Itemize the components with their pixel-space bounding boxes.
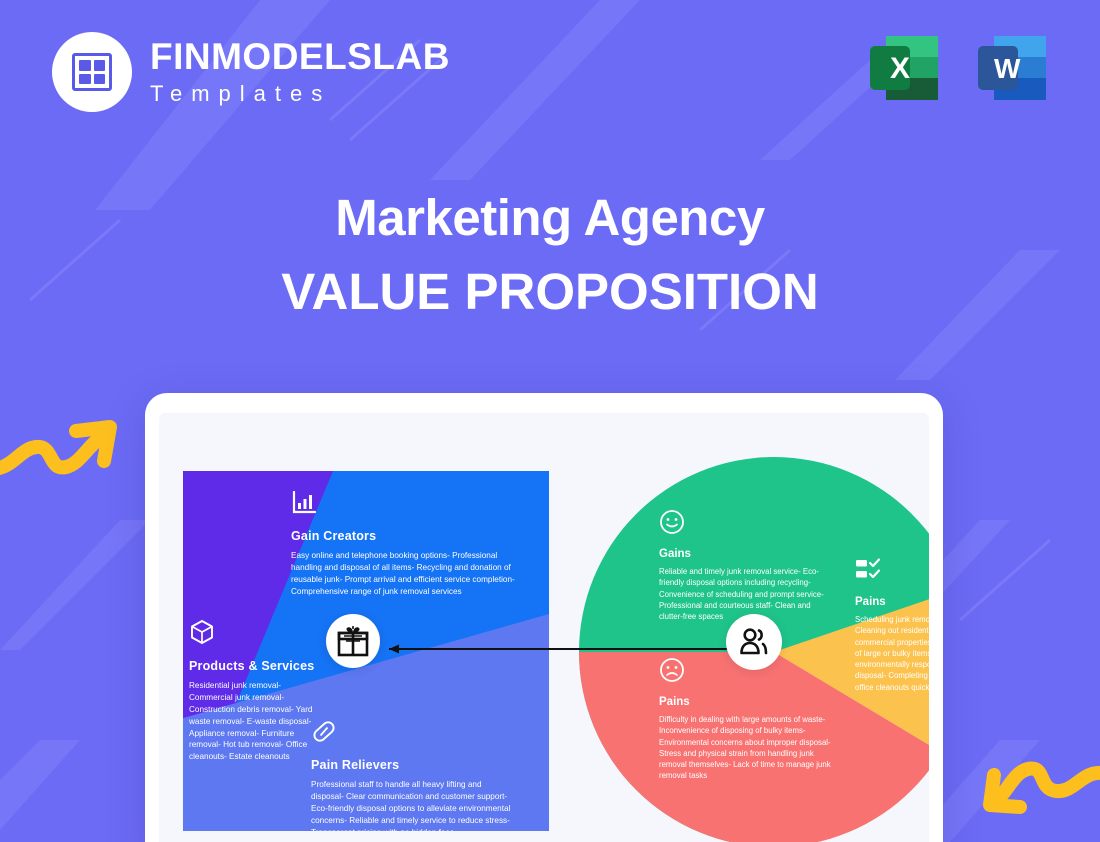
- checklist-icon: [855, 557, 929, 588]
- pain-relievers-block[interactable]: Pain Relievers Professional staff to han…: [311, 718, 516, 831]
- svg-text:X: X: [890, 52, 910, 85]
- page-title-block: Marketing Agency VALUE PROPOSITION: [0, 190, 1100, 320]
- smiley-happy-icon: [659, 509, 834, 540]
- pain-relievers-title: Pain Relievers: [311, 758, 516, 772]
- page-title-line1: Marketing Agency: [0, 190, 1100, 246]
- excel-file-icon[interactable]: X: [864, 28, 944, 108]
- page-title-line2: VALUE PROPOSITION: [0, 264, 1100, 320]
- page-header: FINMODELSLAB Templates X W: [0, 0, 1100, 150]
- logo-mark: [52, 32, 132, 112]
- gains-block[interactable]: Gains Reliable and timely junk removal s…: [659, 509, 834, 622]
- brand-logo[interactable]: FINMODELSLAB Templates: [52, 32, 450, 112]
- gain-creators-block[interactable]: Gain Creators Easy online and telephone …: [291, 489, 521, 598]
- gift-box-icon: [336, 624, 370, 658]
- svg-text:W: W: [994, 53, 1021, 84]
- format-badges: X W: [864, 28, 1052, 108]
- package-box-icon: [189, 619, 319, 650]
- canvas-screen: Gain Creators Easy online and telephone …: [159, 413, 929, 842]
- word-file-icon[interactable]: W: [972, 28, 1052, 108]
- pain-relievers-body: Professional staff to handle all heavy l…: [311, 779, 516, 831]
- squiggly-arrow-down-left-icon: [974, 745, 1100, 842]
- device-frame: Gain Creators Easy online and telephone …: [145, 393, 943, 842]
- products-services-block[interactable]: Products & Services Residential junk rem…: [189, 619, 319, 763]
- bar-chart-icon: [291, 489, 521, 520]
- products-services-body: Residential junk removal- Commercial jun…: [189, 680, 319, 763]
- customer-jobs-title: Pains: [855, 596, 929, 608]
- grid-squares-icon: [72, 53, 112, 91]
- value-map-center-node[interactable]: [326, 614, 380, 668]
- pains-block[interactable]: Pains Difficulty in dealing with large a…: [659, 657, 839, 782]
- brand-name: FINMODELSLAB: [150, 38, 450, 75]
- customer-jobs-block[interactable]: Pains Scheduling junk removal services- …: [855, 557, 929, 693]
- pill-capsule-icon: [311, 718, 516, 749]
- gain-creators-body: Easy online and telephone booking option…: [291, 550, 521, 598]
- gains-title: Gains: [659, 548, 834, 560]
- squiggly-arrow-up-right-icon: [0, 405, 122, 505]
- people-users-icon: [737, 625, 771, 659]
- pains-title: Pains: [659, 696, 839, 708]
- customer-jobs-body: Scheduling junk removal services- Cleani…: [855, 614, 929, 693]
- products-services-title: Products & Services: [189, 659, 319, 673]
- brand-subtitle: Templates: [150, 81, 450, 107]
- pains-body: Difficulty in dealing with large amounts…: [659, 714, 839, 782]
- gain-creators-title: Gain Creators: [291, 529, 521, 543]
- customer-profile-center-node[interactable]: [726, 614, 782, 670]
- connector-arrow: [381, 641, 731, 645]
